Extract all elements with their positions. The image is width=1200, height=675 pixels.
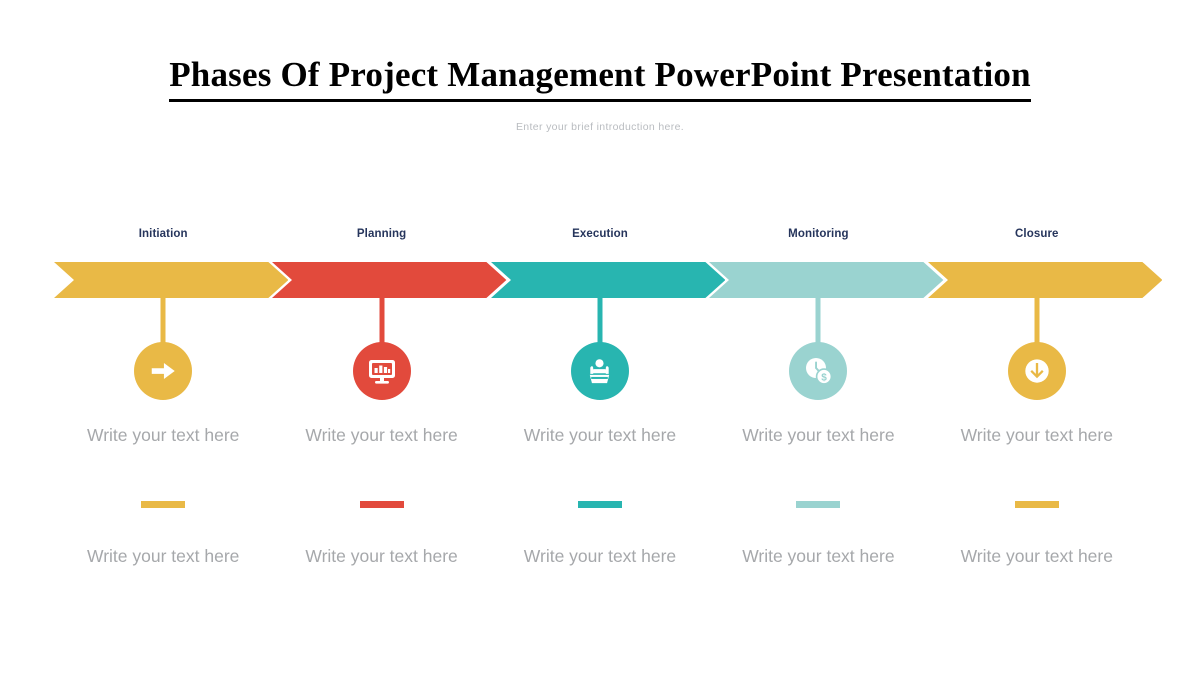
- phase-column-monitoring[interactable]: Monitoring $ Write your text here Write …: [709, 228, 927, 648]
- phase-text-bottom-initiation: Write your text here: [54, 544, 272, 569]
- svg-text:$: $: [822, 373, 828, 384]
- phase-text-top-execution: Write your text here: [491, 423, 709, 448]
- phase-column-initiation[interactable]: Initiation Write your text here Write yo…: [54, 228, 272, 648]
- phase-icon-circle-planning[interactable]: [353, 342, 411, 400]
- phase-label-execution: Execution: [491, 228, 709, 240]
- arrow-down-circle-icon: [1020, 354, 1054, 388]
- page-title: Phases Of Project Management PowerPoint …: [0, 53, 1200, 102]
- page-title-text: Phases Of Project Management PowerPoint …: [169, 53, 1031, 102]
- monitor-chart-icon: [366, 355, 398, 387]
- phase-divider-monitoring: [796, 501, 840, 508]
- phase-divider-planning: [360, 501, 404, 508]
- phase-icon-circle-execution[interactable]: [571, 342, 629, 400]
- phase-text-bottom-monitoring: Write your text here: [709, 544, 927, 569]
- phase-icon-circle-initiation[interactable]: [134, 342, 192, 400]
- phase-icon-circle-monitoring[interactable]: $: [789, 342, 847, 400]
- phase-icon-circle-closure[interactable]: [1008, 342, 1066, 400]
- phase-text-top-planning: Write your text here: [272, 423, 490, 448]
- phase-text-bottom-closure: Write your text here: [928, 544, 1146, 569]
- phase-label-closure: Closure: [928, 228, 1146, 240]
- phase-text-top-initiation: Write your text here: [54, 423, 272, 448]
- phase-column-closure[interactable]: Closure Write your text here Write your …: [928, 228, 1146, 648]
- phase-column-execution[interactable]: Execution Write your text here Write you…: [491, 228, 709, 648]
- phase-column-planning[interactable]: Planning Write your text here Write your…: [272, 228, 490, 648]
- phase-text-top-monitoring: Write your text here: [709, 423, 927, 448]
- arrow-right-icon: [148, 356, 178, 386]
- presenter-podium-icon: [584, 356, 615, 387]
- phase-label-monitoring: Monitoring: [709, 228, 927, 240]
- phase-label-initiation: Initiation: [54, 228, 272, 240]
- phase-divider-execution: [578, 501, 622, 508]
- phase-text-top-closure: Write your text here: [928, 423, 1146, 448]
- phase-text-bottom-planning: Write your text here: [272, 544, 490, 569]
- phase-label-planning: Planning: [272, 228, 490, 240]
- clock-money-icon: $: [802, 355, 834, 387]
- phase-divider-closure: [1015, 501, 1059, 508]
- phase-text-bottom-execution: Write your text here: [491, 544, 709, 569]
- phase-columns: Initiation Write your text here Write yo…: [54, 228, 1146, 648]
- page-subtitle: Enter your brief introduction here.: [0, 121, 1200, 133]
- phase-divider-initiation: [141, 501, 185, 508]
